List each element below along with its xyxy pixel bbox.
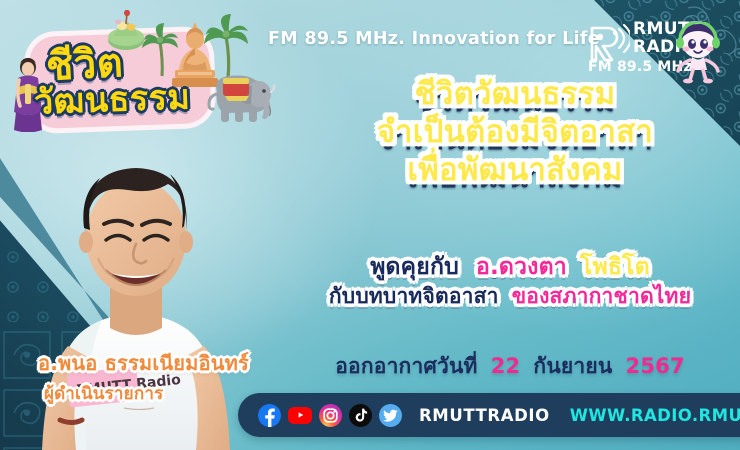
speaker-row-topic: กับบทบาทจิตอาสา ของสภากาชาดไทย	[280, 283, 740, 310]
broadcast-date-day: 22	[491, 354, 521, 378]
youtube-icon[interactable]	[288, 407, 312, 424]
speaker-topic-prefix: กับบทบาทจิตอาสา	[329, 284, 499, 308]
host-name: อ.พนอ ธรรมเนียมอินทร์	[38, 347, 278, 379]
twitter-icon[interactable]	[379, 404, 402, 427]
elephant-icon	[205, 64, 277, 126]
speaker-name: อ.ดวงตา	[476, 254, 567, 280]
broadcast-date-label: ออกอากาศวันที่	[335, 354, 477, 378]
speaker-prefix: พูดคุยกับ	[370, 254, 459, 280]
tiktok-icon[interactable]	[349, 404, 372, 427]
social-handle[interactable]: RMUTTRADIO	[419, 406, 550, 425]
broadcast-promo-banner: ชีวิต วัฒนธรรม FM 89.5 MHz. Innovation f…	[0, 0, 740, 450]
broadcast-date-year: 2567	[626, 354, 685, 378]
headline-line-3: เพื่อพัฒนาสังคม	[290, 152, 740, 190]
headline-line-1: ชีวิตวัฒนธรรม	[290, 76, 740, 114]
radio-mascot-icon	[672, 22, 724, 84]
radio-tower-r-icon	[588, 24, 630, 64]
footer-bar: RMUTTRADIO WWW.RADIO.RMUTT.AC.TH	[238, 393, 740, 437]
speaker-surname: โพธิโต	[580, 254, 650, 280]
headline-line-2: จำเป็นต้องมีจิตอาสา	[290, 114, 740, 152]
host-name-block: อ.พนอ ธรรมเนียมอินทร์ ผู้ดำเนินรายการ	[38, 347, 278, 407]
headline-block: ชีวิตวัฒนธรรม จำเป็นต้องมีจิตอาสา เพื่อพ…	[290, 76, 740, 189]
speaker-row-name: พูดคุยกับ อ.ดวงตา โพธิโต	[280, 253, 740, 283]
speaker-block: พูดคุยกับ อ.ดวงตา โพธิโต กับบทบาทจิตอาสา…	[280, 253, 740, 310]
fm-tagline: FM 89.5 MHz. Innovation for Life	[268, 29, 600, 49]
speaker-topic-org: ของสภากาชาดไทย	[512, 284, 691, 308]
instagram-icon[interactable]	[319, 404, 342, 427]
broadcast-date-month: กันยายน	[533, 354, 612, 378]
broadcast-date-block: ออกอากาศวันที่ 22 กันยายน 2567	[280, 350, 740, 383]
website-url[interactable]: WWW.RADIO.RMUTT.AC.TH	[570, 406, 740, 425]
program-logo: ชีวิต วัฒนธรรม	[12, 14, 237, 134]
facebook-icon[interactable]	[258, 404, 281, 427]
